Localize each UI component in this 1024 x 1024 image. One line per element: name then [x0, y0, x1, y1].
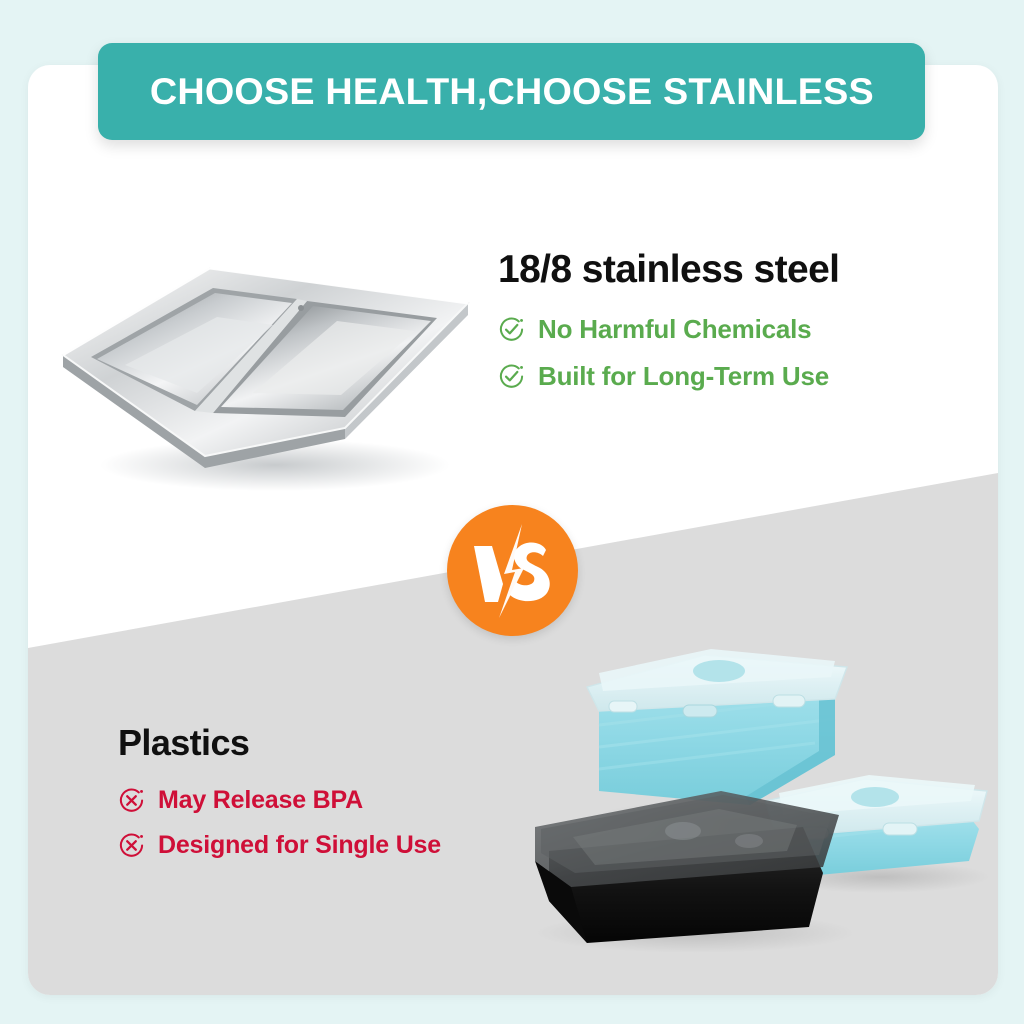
- page-title: CHOOSE HEALTH,CHOOSE STAINLESS: [150, 71, 874, 113]
- stainless-steel-tray-image: [45, 225, 485, 500]
- x-circle-icon: [118, 832, 145, 859]
- stainless-feature-block: 18/8 stainless steel No Harmful Chemical…: [498, 248, 839, 408]
- plastics-feature-block: Plastics May Release BPA Designed for Si…: [118, 722, 441, 876]
- plastics-title: Plastics: [118, 722, 441, 764]
- stainless-feature-label: No Harmful Chemicals: [538, 314, 811, 345]
- plastics-feature-row: Designed for Single Use: [118, 831, 441, 860]
- stainless-feature-row: Built for Long-Term Use: [498, 361, 839, 392]
- plastics-feature-label: May Release BPA: [158, 786, 363, 815]
- x-circle-icon: [118, 787, 145, 814]
- plastic-containers-image: [535, 615, 1005, 955]
- infographic-root: CHOOSE HEALTH,CHOOSE STAINLESS: [0, 0, 1024, 1024]
- check-circle-icon: [498, 316, 525, 343]
- header-banner: CHOOSE HEALTH,CHOOSE STAINLESS: [98, 43, 925, 140]
- plastics-feature-label: Designed for Single Use: [158, 831, 441, 860]
- stainless-title: 18/8 stainless steel: [498, 248, 839, 292]
- stainless-feature-label: Built for Long-Term Use: [538, 361, 829, 392]
- versus-badge: [447, 505, 578, 636]
- check-circle-icon: [498, 363, 525, 390]
- plastics-feature-row: May Release BPA: [118, 786, 441, 815]
- stainless-feature-row: No Harmful Chemicals: [498, 314, 839, 345]
